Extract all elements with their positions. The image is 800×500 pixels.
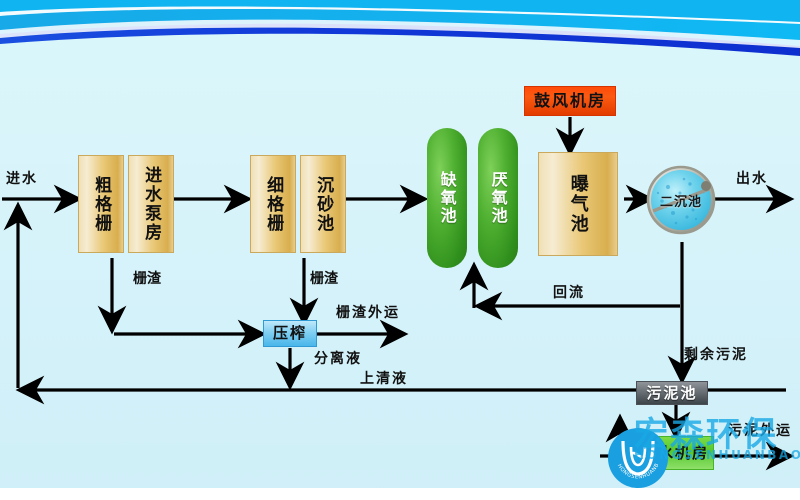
node-press[interactable]: 压榨 [263,320,317,347]
node-coarse-screen[interactable]: 粗格栅 [78,155,124,253]
node-fine-screen-label: 细格栅 [264,176,282,233]
node-anaerobic-tank-label: 厌氧池 [489,171,506,225]
label-effluent: 出水 [736,172,768,188]
node-blower-room[interactable]: 鼓风机房 [524,86,616,116]
label-influent: 进水 [6,172,38,188]
label-return-sludge: 回流 [553,286,585,302]
label-screenings-coarse: 栅渣 [133,272,149,288]
node-blower-room-label: 鼓风机房 [534,92,606,109]
node-grit-chamber[interactable]: 沉砂池 [300,155,346,253]
node-anoxic-tank[interactable]: 缺氧池 [427,128,467,268]
node-aeration-tank[interactable]: 曝气池 [538,152,618,256]
watermark-text: 宏森环保 HONGSENHUANBAO [634,418,800,461]
label-screenings-out: 栅渣外运 [336,306,400,322]
node-sludge-tank[interactable]: 污泥池 [636,381,708,405]
node-secondary-clarifier-label: 二沉池 [646,165,716,235]
node-secondary-clarifier[interactable]: 二沉池 [646,165,716,235]
node-influent-pump-house-label: 进水泵房 [142,166,160,242]
node-anaerobic-tank[interactable]: 厌氧池 [478,128,518,268]
label-excess-sludge: 剩余污泥 [684,348,748,364]
node-fine-screen[interactable]: 细格栅 [250,155,296,253]
label-supernatant: 上清液 [360,372,408,388]
node-grit-chamber-label: 沉砂池 [314,176,332,233]
node-press-label: 压榨 [273,325,307,341]
watermark-text-en: HONGSENHUANBAO [634,449,800,461]
node-anoxic-tank-label: 缺氧池 [438,171,455,225]
node-coarse-screen-label: 粗格栅 [92,176,110,233]
diagram-canvas: 粗格栅 进水泵房 细格栅 沉砂池 缺氧池 厌氧池 曝气池 鼓风机房 [0,0,800,500]
node-aeration-tank-label: 曝气池 [568,174,587,234]
label-separated-liquid: 分离液 [314,352,362,368]
node-influent-pump-house[interactable]: 进水泵房 [128,155,174,253]
label-screenings-fine: 栅渣 [310,272,326,288]
bottom-edge [0,488,800,500]
node-sludge-tank-label: 污泥池 [646,385,697,401]
